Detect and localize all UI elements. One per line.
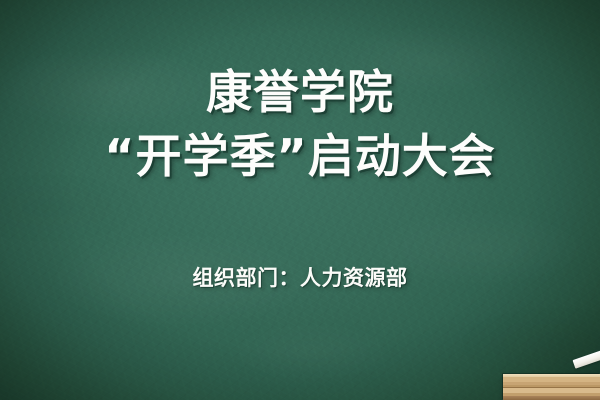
slide-title: 康誉学院 “开学季”启动大会 xyxy=(104,64,495,184)
chalk-tray xyxy=(503,374,600,400)
presentation-slide: 康誉学院 “开学季”启动大会 组织部门：人力资源部 xyxy=(0,0,600,400)
chalk-tray-groove xyxy=(503,387,600,388)
slide-content: 康誉学院 “开学季”启动大会 组织部门：人力资源部 xyxy=(0,0,600,400)
chalk-tray-base xyxy=(503,396,600,400)
chalk-tray-lip xyxy=(503,374,600,377)
title-line-2: “开学季”启动大会 xyxy=(104,128,495,184)
slide-subtitle: 组织部门：人力资源部 xyxy=(193,262,408,292)
title-line-1: 康誉学院 xyxy=(104,64,495,120)
